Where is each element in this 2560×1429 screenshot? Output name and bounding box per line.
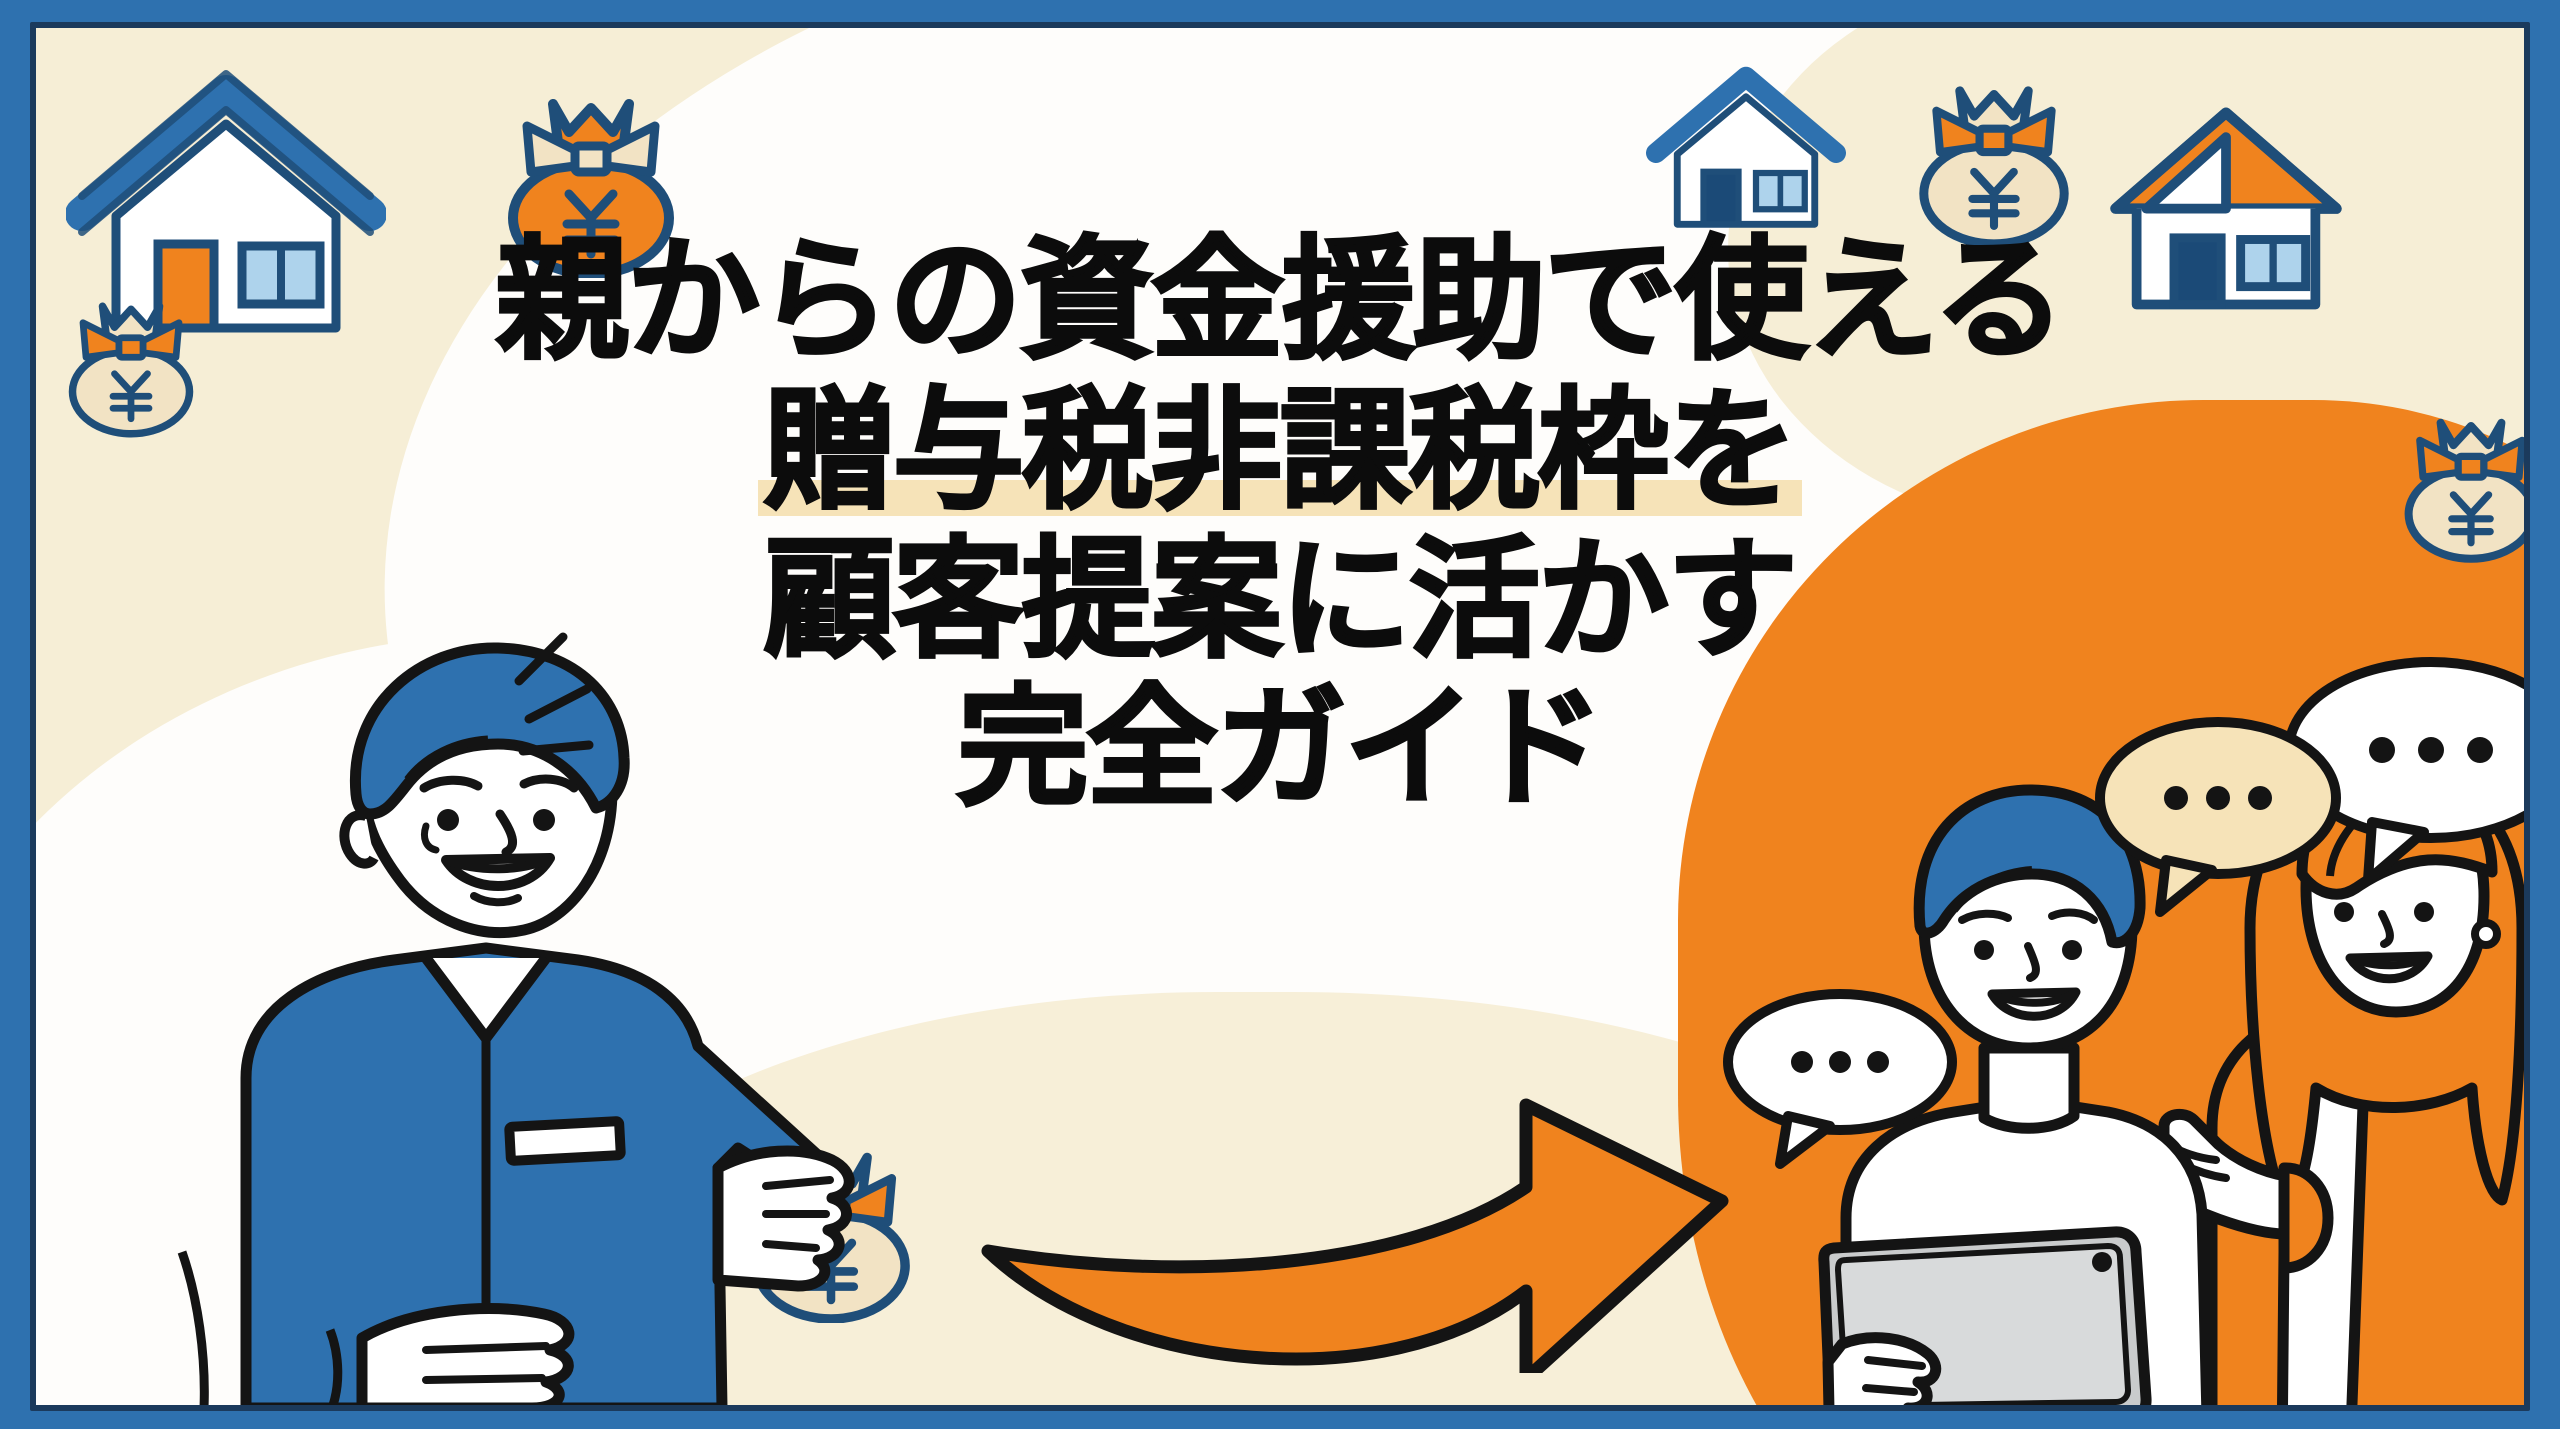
emphasis-lines-icon (501, 623, 651, 773)
curved-arrow-icon (966, 1083, 1766, 1373)
artboard: 親からの資金援助で使える 贈与税非課税枠を 顧客提案に活かす 完全ガイド (36, 28, 2524, 1405)
money-bag-icon-tan-left (56, 278, 206, 438)
banner-canvas: 親からの資金援助で使える 贈与税非課税枠を 顧客提案に活かす 完全ガイド (0, 0, 2560, 1429)
money-bag-icon-tan-far-right (2391, 393, 2524, 563)
house-icon-small-top (1646, 58, 1846, 238)
money-bag-icon-tan-top-right (1904, 58, 2084, 248)
money-bag-icon-orange-top (491, 68, 691, 278)
speech-bubble-white-lower (1716, 978, 1966, 1178)
house-icon-orange-roof-right (2096, 83, 2356, 318)
speech-bubble-tan (2088, 706, 2358, 926)
